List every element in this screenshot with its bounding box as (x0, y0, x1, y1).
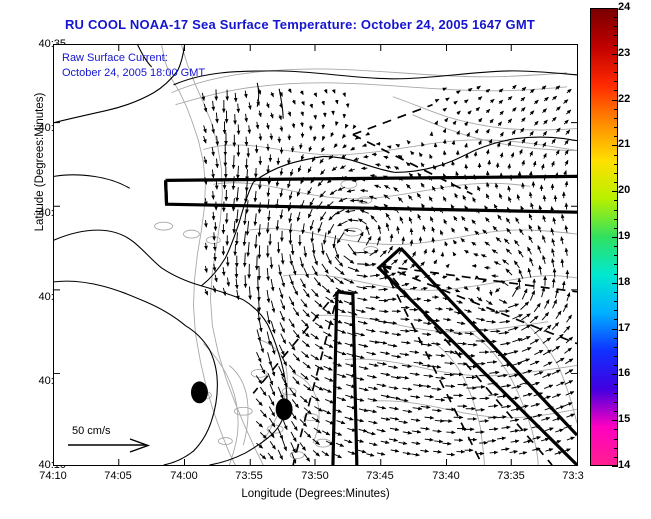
current-vector (477, 86, 481, 89)
current-vector (529, 236, 533, 243)
station-marker (276, 398, 293, 420)
annotation-block: Raw Surface Current: October 24, 2005 18… (62, 51, 205, 81)
current-vector (271, 113, 273, 118)
current-vector (289, 297, 294, 306)
current-vector (486, 300, 492, 304)
current-vector (512, 315, 522, 319)
current-vector (566, 130, 570, 134)
current-vector (292, 146, 293, 152)
x-tick-label: 73:35 (486, 470, 536, 482)
colorbar-minor-tick (614, 393, 618, 394)
current-vector (322, 264, 328, 274)
current-vector (312, 156, 315, 161)
current-vector (446, 98, 449, 100)
current-vector (212, 147, 213, 156)
current-vector (490, 452, 498, 453)
current-vector (508, 186, 509, 191)
current-vector (302, 154, 304, 160)
current-vector (488, 417, 497, 418)
current-vector (376, 164, 381, 165)
current-vector (293, 265, 296, 275)
current-vector (338, 221, 348, 226)
current-vector (281, 189, 283, 197)
colorbar-minor-tick (614, 136, 618, 137)
current-vector (402, 284, 409, 286)
current-vector (411, 228, 412, 235)
colorbar-tick-label: 18 (618, 276, 630, 288)
current-vector (308, 188, 312, 195)
colorbar-minor-tick (614, 182, 618, 183)
current-vector (435, 399, 444, 400)
current-vector (298, 166, 300, 172)
current-vector (469, 298, 474, 301)
current-vector (289, 319, 294, 328)
current-vector (534, 350, 543, 354)
current-vector (463, 195, 465, 200)
current-vector (465, 227, 469, 231)
current-vector (334, 144, 337, 148)
current-vector (420, 428, 429, 429)
current-vector (271, 301, 274, 313)
current-vector (514, 261, 519, 268)
current-vector (246, 180, 247, 192)
current-vector (454, 121, 456, 124)
current-vector (522, 289, 527, 299)
current-vector (358, 450, 366, 452)
current-vector (486, 321, 495, 322)
current-vector (311, 396, 319, 401)
current-vector (506, 249, 511, 254)
current-vector (501, 132, 504, 136)
current-vector (510, 420, 519, 422)
current-vector (478, 186, 480, 191)
current-vector (528, 268, 530, 277)
current-vector (530, 258, 533, 266)
current-vector (403, 237, 404, 244)
current-vector (304, 431, 311, 438)
current-vector (204, 104, 206, 112)
colorbar-tick-mark (612, 329, 618, 330)
colorbar-minor-tick (614, 81, 618, 82)
current-vector (345, 124, 347, 128)
current-vector (256, 376, 262, 384)
current-vector (341, 155, 345, 158)
current-vector (302, 122, 303, 127)
current-vector (430, 154, 432, 158)
current-vector (312, 417, 320, 422)
current-vector (489, 429, 498, 430)
colorbar-minor-tick (614, 210, 618, 211)
current-vector (300, 443, 306, 451)
current-vector (486, 109, 489, 112)
colorbar-minor-tick (614, 356, 618, 357)
current-vector (457, 91, 461, 93)
current-vector (500, 321, 510, 322)
current-vector (260, 180, 261, 189)
current-vector (421, 262, 425, 266)
current-vector (565, 381, 573, 385)
current-vector (315, 115, 316, 119)
current-vector (508, 351, 518, 354)
current-vector (555, 289, 557, 298)
current-vector (430, 217, 432, 222)
current-vector (278, 450, 282, 460)
current-vector (301, 373, 308, 379)
current-vector (311, 375, 319, 380)
current-vector (501, 449, 509, 450)
current-vector (391, 234, 392, 242)
current-vector (543, 235, 546, 242)
current-vector (322, 136, 324, 140)
current-vector (468, 111, 471, 114)
current-vector (375, 185, 381, 187)
current-vector (509, 375, 518, 377)
current-vector (390, 397, 399, 399)
current-vector (402, 260, 407, 265)
current-vector (216, 180, 217, 189)
current-vector (472, 220, 476, 224)
current-vector (334, 246, 338, 258)
map-plot-area[interactable]: Raw Surface Current: October 24, 2005 18… (53, 44, 578, 466)
current-vector (378, 342, 387, 344)
current-vector (371, 216, 377, 223)
colorbar-minor-tick (614, 173, 618, 174)
current-vector (391, 450, 399, 452)
current-vector (445, 386, 455, 387)
current-vector (279, 265, 281, 276)
current-vector (389, 407, 398, 409)
current-vector (523, 441, 531, 443)
current-vector (530, 361, 539, 365)
current-vector (359, 344, 368, 346)
current-vector (259, 111, 261, 117)
current-vector (493, 226, 497, 231)
current-vector (545, 449, 553, 451)
current-vector (366, 236, 371, 245)
current-vector (534, 121, 538, 125)
current-vector (435, 99, 438, 101)
current-vector (205, 266, 206, 272)
current-vector (433, 431, 442, 432)
current-vector (523, 160, 524, 165)
current-vector (293, 354, 300, 361)
current-vector (257, 330, 260, 342)
current-vector (314, 278, 321, 286)
current-vector (456, 279, 460, 280)
current-vector (542, 312, 548, 320)
colorbar-minor-tick (614, 200, 618, 201)
current-vector (491, 311, 500, 313)
current-vector (322, 410, 330, 414)
current-vector (345, 417, 354, 420)
current-vector (497, 438, 505, 439)
current-vector (456, 301, 462, 303)
x-tick-label: 73:50 (290, 470, 340, 482)
current-vector (457, 111, 460, 114)
current-vector (491, 290, 492, 296)
current-vector (311, 220, 314, 230)
current-vector (464, 310, 471, 312)
current-vector (344, 230, 355, 231)
current-vector (293, 308, 299, 316)
current-vector (443, 421, 452, 422)
colorbar-minor-tick (614, 255, 618, 256)
current-vector (311, 104, 312, 108)
current-vector (260, 387, 266, 396)
current-vector (359, 201, 367, 202)
current-vector (543, 338, 551, 344)
x-tick-label: 73:40 (421, 470, 471, 482)
current-vector (489, 394, 499, 395)
current-vector (314, 254, 318, 265)
current-vector (423, 323, 431, 324)
current-vector (260, 454, 266, 459)
current-vector (282, 253, 283, 264)
current-vector (543, 131, 547, 135)
current-vector (455, 193, 457, 198)
current-vector (259, 224, 260, 236)
current-vector (566, 181, 567, 187)
colorbar-tick-label: 21 (618, 138, 630, 150)
current-vector (454, 333, 463, 334)
current-vector (402, 388, 411, 389)
current-vector (476, 318, 484, 320)
current-vector (238, 166, 239, 179)
current-vector (303, 289, 309, 297)
colorbar-minor-tick (614, 72, 618, 73)
current-vector (444, 151, 445, 155)
current-vector (244, 231, 245, 245)
current-vector (555, 452, 562, 454)
current-vector (487, 150, 488, 155)
current-vector (565, 160, 568, 165)
current-vector (543, 215, 545, 222)
current-vector (410, 351, 419, 352)
current-vector (328, 224, 334, 234)
colorbar-minor-tick (614, 164, 618, 165)
current-vector (388, 366, 397, 368)
current-vector (538, 226, 541, 233)
current-vector (381, 373, 390, 375)
current-vector (292, 244, 293, 255)
current-vector (530, 131, 533, 136)
current-vector (329, 213, 336, 220)
current-vector (542, 287, 545, 297)
current-vector (380, 250, 386, 256)
current-vector (519, 429, 528, 431)
current-vector (344, 93, 345, 97)
current-vector (552, 370, 560, 374)
current-vector (517, 195, 519, 201)
current-vector (324, 355, 333, 359)
current-vector (492, 276, 498, 277)
current-vector (370, 275, 380, 276)
current-vector (293, 100, 295, 104)
current-vector (267, 103, 269, 108)
current-vector (544, 195, 545, 201)
current-vector (564, 120, 568, 124)
current-vector (478, 308, 485, 311)
current-vector (400, 330, 409, 331)
colorbar-minor-tick (614, 63, 618, 64)
current-vector (425, 439, 434, 440)
current-vector (206, 243, 207, 250)
current-vector (435, 309, 442, 310)
current-vector (521, 128, 524, 132)
current-vector (481, 255, 486, 257)
colorbar-minor-tick (614, 118, 618, 119)
current-vector (355, 333, 364, 335)
current-vector (472, 242, 476, 245)
current-vector (457, 343, 466, 344)
current-vector (303, 101, 305, 105)
current-vector (356, 310, 365, 312)
current-vector (564, 348, 571, 353)
current-vector (507, 228, 511, 233)
current-vector (361, 190, 368, 191)
current-vector (419, 153, 421, 157)
current-vector (300, 396, 307, 403)
current-vector (304, 408, 311, 414)
colorbar-minor-tick (614, 411, 618, 412)
current-vector (543, 255, 545, 263)
current-vector (553, 278, 554, 287)
current-vector (476, 129, 478, 133)
current-vector (479, 140, 481, 144)
current-vector (267, 123, 268, 129)
current-vector (409, 330, 418, 331)
current-vector (521, 108, 525, 112)
current-vector (334, 454, 341, 457)
current-vector (348, 220, 358, 221)
current-vector (534, 372, 543, 375)
current-vector (334, 235, 336, 248)
current-vector (290, 192, 292, 200)
current-vector (417, 193, 420, 198)
current-vector (214, 264, 215, 271)
colorbar-minor-tick (614, 219, 618, 220)
current-vector (311, 355, 319, 360)
vector-scale-label: 50 cm/s (72, 425, 169, 437)
current-vector (204, 136, 206, 143)
current-vector (337, 374, 346, 377)
current-vector (256, 421, 262, 427)
current-vector (227, 278, 228, 287)
current-vector (565, 140, 569, 145)
current-vector (510, 451, 518, 452)
x-tick-label: 73:3 (548, 470, 598, 482)
current-vector (213, 101, 214, 111)
current-vector (398, 442, 406, 443)
current-vector (477, 297, 482, 301)
current-vector (508, 304, 519, 308)
current-vector (445, 351, 454, 352)
current-vector (508, 119, 511, 123)
current-vector (412, 443, 420, 444)
current-vector (566, 248, 567, 256)
colorbar-minor-tick (614, 17, 618, 18)
current-vector (443, 108, 446, 110)
current-vector (421, 386, 431, 387)
current-vector (556, 311, 561, 319)
current-vector (323, 124, 324, 128)
current-vector (388, 273, 396, 276)
current-vector (271, 279, 273, 291)
current-vector (269, 211, 270, 221)
current-vector (498, 215, 502, 220)
current-vector (313, 450, 319, 456)
colorbar-tick-mark (612, 191, 618, 192)
current-vector (403, 432, 412, 433)
current-vector (544, 97, 548, 101)
current-vector (465, 250, 469, 252)
current-vector (563, 304, 567, 312)
current-vector (531, 203, 533, 209)
current-vector (345, 211, 355, 212)
current-vector (480, 398, 490, 399)
current-vector (318, 180, 323, 186)
current-vector (291, 432, 296, 442)
current-vector (289, 275, 293, 285)
current-vector (443, 197, 446, 202)
colorbar-tick-label: 24 (618, 1, 630, 13)
current-vector (497, 396, 506, 397)
current-vector (390, 418, 399, 420)
current-vector (301, 351, 308, 357)
current-vector (381, 441, 389, 443)
current-vector (508, 96, 512, 99)
current-vector (456, 171, 457, 176)
current-vector (358, 321, 367, 323)
current-vector (255, 191, 256, 202)
current-vector (422, 365, 431, 366)
colorbar-tick-label: 20 (618, 184, 630, 196)
current-vector (289, 111, 291, 116)
current-vector (270, 441, 275, 449)
current-vector (212, 170, 213, 178)
x-tick-label: 73:55 (224, 470, 274, 482)
current-vector (380, 352, 389, 354)
current-vector (510, 430, 519, 432)
current-vector (400, 217, 403, 224)
current-vector (413, 408, 422, 409)
current-vector (223, 267, 224, 275)
current-vector (519, 452, 527, 454)
current-vector (381, 418, 390, 420)
current-vector (281, 168, 282, 175)
current-vector (313, 243, 314, 254)
current-vector (423, 344, 432, 345)
current-vector (322, 286, 330, 293)
current-vector (354, 159, 359, 161)
current-vector (347, 190, 355, 192)
current-vector (563, 100, 567, 104)
current-vector (552, 394, 560, 397)
current-vector (323, 389, 331, 393)
colorbar-minor-tick (614, 310, 618, 311)
current-vector (315, 386, 323, 391)
current-vector (268, 373, 272, 385)
current-vector (432, 410, 441, 411)
colorbar-minor-tick (614, 439, 618, 440)
current-vector (473, 197, 476, 202)
current-vector (260, 410, 266, 417)
current-vector (521, 302, 529, 310)
x-tick-label: 74:00 (159, 470, 209, 482)
current-vector (411, 419, 420, 420)
current-vector (322, 243, 324, 255)
current-vector (323, 101, 324, 105)
